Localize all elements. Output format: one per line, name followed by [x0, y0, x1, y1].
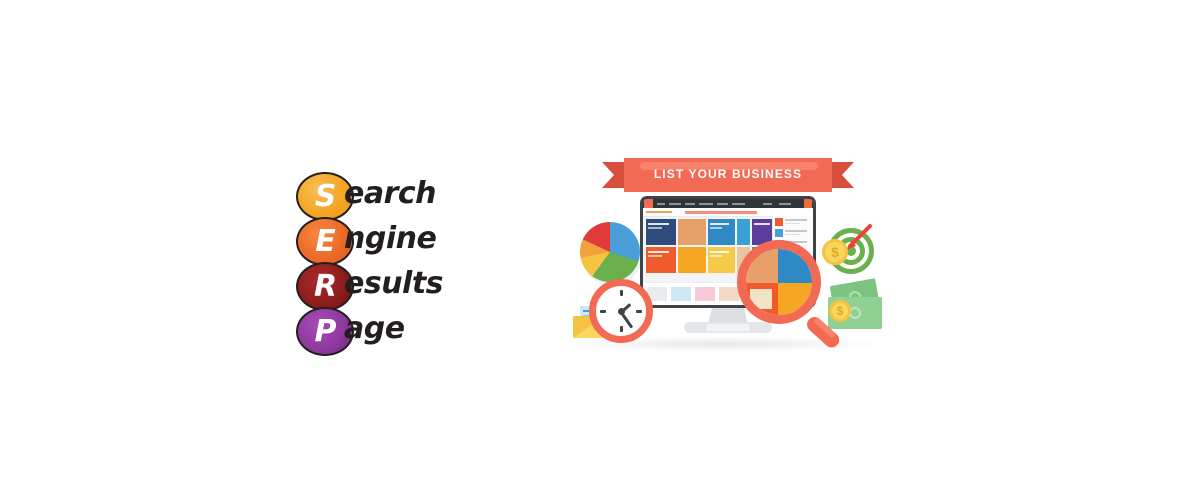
content-tile[interactable] [646, 247, 676, 273]
tile-label [648, 251, 669, 253]
nav-item[interactable] [763, 203, 772, 205]
content-tile[interactable] [678, 247, 706, 273]
nav-item[interactable] [732, 203, 745, 205]
content-tile[interactable] [678, 219, 706, 245]
magnifier-ring [737, 240, 821, 324]
monitor-base-inner [706, 324, 750, 331]
serp-word-search: earch [344, 176, 436, 211]
sidebar-line [785, 234, 800, 236]
nav-item[interactable] [779, 203, 791, 205]
serp-word-results: esults [344, 266, 443, 301]
serp-acronym: S earch E ngine R esults P age [296, 172, 456, 352]
nav-item[interactable] [669, 203, 681, 205]
serp-letter-p: P [315, 317, 336, 347]
dollar-coin-icon: $ [829, 300, 851, 322]
content-tile[interactable] [646, 219, 676, 245]
sidebar-line [785, 230, 807, 232]
subheader-title [646, 211, 672, 213]
sidebar-thumb [775, 218, 783, 226]
illustration-canvas: S earch E ngine R esults P age [0, 0, 1200, 500]
sidebar-thumb [775, 229, 783, 237]
content-tile[interactable] [708, 247, 735, 273]
clock-tick [600, 310, 606, 313]
clock-tick [620, 326, 623, 332]
serp-row-search: S earch [296, 172, 456, 217]
tile-sublabel [648, 227, 662, 229]
banner-text: LIST YOUR BUSINESS [602, 167, 854, 181]
sidebar-line [785, 223, 800, 225]
nav-item[interactable] [717, 203, 728, 205]
nav-item[interactable] [699, 203, 713, 205]
tile-label [648, 223, 669, 225]
serp-letter-r: R [314, 272, 336, 302]
website-logo[interactable] [644, 199, 653, 208]
clock-icon [589, 279, 653, 343]
tile-label [710, 251, 729, 253]
sidebar-list-item[interactable] [775, 229, 811, 238]
subheader-promo-bar [685, 211, 757, 214]
serp-row-engine: E ngine [296, 217, 456, 262]
serp-letter-s: S [315, 182, 336, 212]
content-tile[interactable] [708, 219, 735, 245]
clock-tick [620, 290, 623, 296]
sidebar-list-item[interactable] [775, 218, 811, 227]
bottom-card[interactable] [671, 287, 691, 301]
clock-tick [636, 310, 642, 313]
tile-sublabel [648, 255, 662, 257]
serp-letter-e: E [315, 227, 335, 257]
pie-chart [580, 222, 640, 282]
tile-label [754, 223, 770, 225]
tile-sublabel [710, 227, 722, 229]
nav-item[interactable] [657, 203, 665, 205]
nav-action-button[interactable] [804, 199, 812, 208]
list-your-business-banner: LIST YOUR BUSINESS [602, 158, 854, 192]
clock-center-dot [618, 308, 625, 315]
bottom-card[interactable] [695, 287, 715, 301]
nav-item[interactable] [685, 203, 695, 205]
serp-row-results: R esults [296, 262, 456, 307]
magnifying-glass-icon [737, 240, 821, 324]
sidebar-line [785, 219, 807, 221]
bottom-card[interactable] [719, 287, 739, 301]
tile-sublabel [710, 255, 722, 257]
serp-word-engine: ngine [344, 221, 436, 256]
serp-word-page: age [344, 311, 405, 346]
tile-label [710, 223, 729, 225]
serp-row-page: P age [296, 307, 456, 352]
dollar-coin-icon: $ [822, 239, 848, 265]
